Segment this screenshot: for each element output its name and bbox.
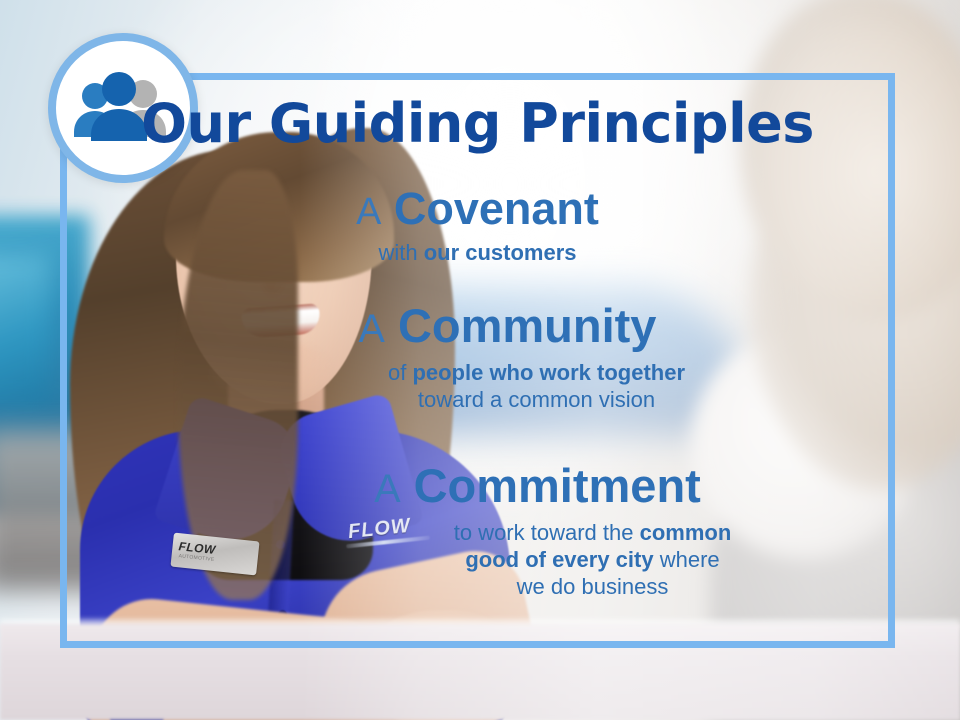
principle-headline: A Commitment [60, 462, 895, 510]
principle-subtext: to work toward the commongood of every c… [60, 520, 895, 600]
principle-covenant: A Covenant with our customers [60, 186, 895, 267]
plain-text: to work toward the [454, 520, 640, 545]
plain-text: of [388, 360, 412, 385]
principle-keyword: Commitment [414, 459, 701, 512]
plain-text: toward a common vision [418, 387, 655, 412]
principle-keyword: Covenant [394, 183, 599, 234]
principle-article: A [374, 467, 400, 511]
emphasis-text: common [640, 520, 732, 545]
principle-subtext-line: toward a common vision [178, 387, 895, 414]
principle-subtext-line: of people who work together [178, 360, 895, 387]
plain-text: with [378, 240, 423, 265]
principle-subtext: of people who work togethertoward a comm… [60, 360, 895, 414]
text-content: Our Guiding Principles A Covenant with o… [0, 0, 960, 720]
principle-subtext-line: with our customers [60, 240, 895, 267]
emphasis-text: people who work together [412, 360, 685, 385]
principle-community: A Community of people who work togethert… [60, 302, 895, 414]
principle-subtext-line: we do business [290, 574, 895, 601]
principle-keyword: Community [398, 299, 657, 352]
principle-headline: A Community [60, 302, 895, 350]
plain-text: where [654, 547, 720, 572]
plain-text: we do business [517, 574, 669, 599]
emphasis-text: our customers [424, 240, 577, 265]
principle-article: A [359, 307, 385, 351]
principle-article: A [356, 191, 381, 233]
principle-headline: A Covenant [60, 186, 895, 232]
principle-commitment: A Commitment to work toward the commongo… [60, 462, 895, 600]
principle-subtext-line: to work toward the common [290, 520, 895, 547]
emphasis-text: good of every city [465, 547, 653, 572]
principle-subtext: with our customers [60, 240, 895, 267]
guiding-principles-graphic: FLOW AUTOMOTIVE FLOW [0, 0, 960, 720]
page-title: Our Guiding Principles [60, 92, 895, 155]
principle-subtext-line: good of every city where [290, 547, 895, 574]
